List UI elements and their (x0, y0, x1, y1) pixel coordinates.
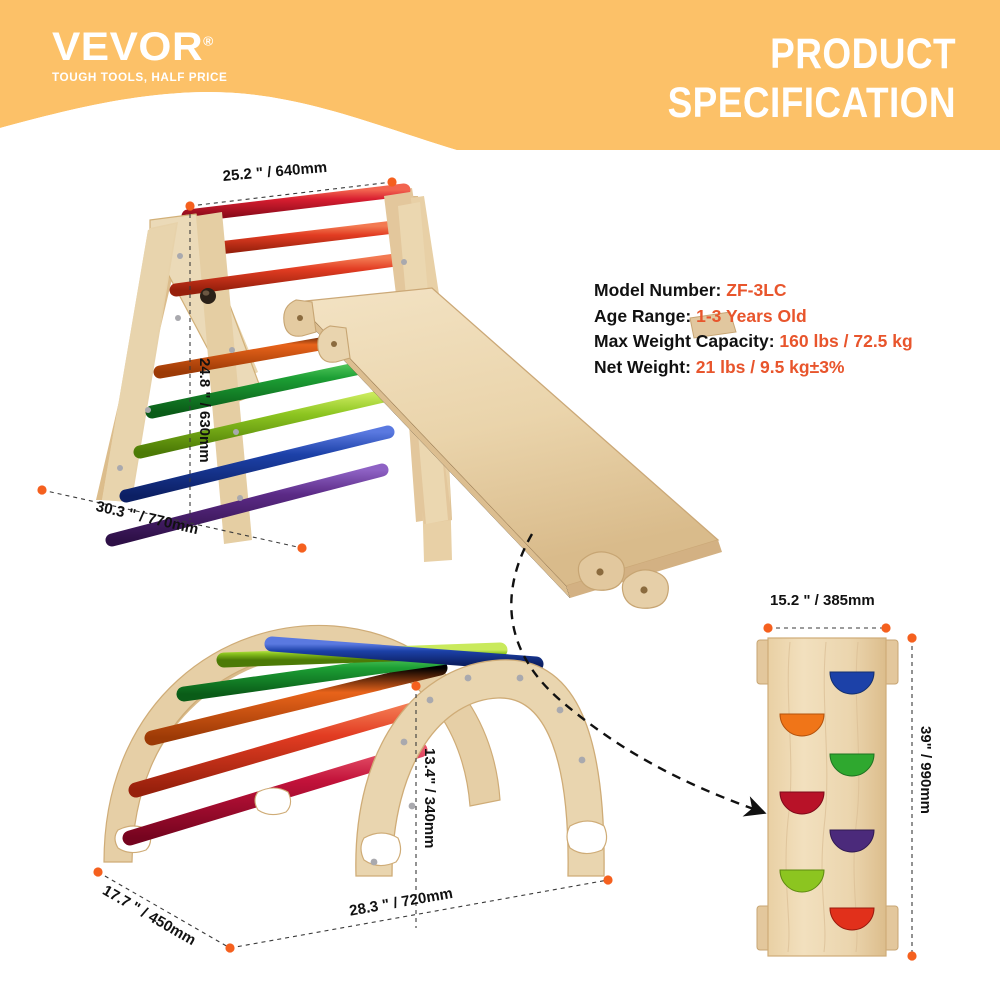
spec-label-age-range: Age Range: (594, 306, 691, 326)
spec-label-model-number: Model Number: (594, 280, 721, 300)
spec-row-model-number: Model Number: ZF-3LC (594, 278, 994, 304)
triangle-height-label: 24.8 " / 630mm (196, 358, 213, 463)
product-illustrations (0, 0, 1000, 1000)
ramp-length-label: 39" / 990mm (917, 726, 934, 814)
spec-value-net-weight: 21 lbs / 9.5 kg±3% (696, 357, 845, 377)
specification-list: Model Number: ZF-3LC Age Range: 1-3 Year… (594, 278, 994, 380)
spec-value-age-range: 1-3 Years Old (696, 306, 807, 326)
climbing-triangle-illustration (37, 177, 736, 608)
spec-row-age-range: Age Range: 1-3 Years Old (594, 304, 994, 330)
spec-value-model-number: ZF-3LC (726, 280, 786, 300)
arch-height-label: 13.4" / 340mm (421, 748, 438, 849)
spec-value-max-weight-capacity: 160 lbs / 72.5 kg (779, 331, 912, 351)
ramp-width-label: 15.2 " / 385mm (770, 592, 875, 609)
product-specification-sheet: VEVOR® TOUGH TOOLS, HALF PRICE PRODUCT S… (0, 0, 1000, 1000)
spec-row-net-weight: Net Weight: 21 lbs / 9.5 kg±3% (594, 355, 994, 381)
spec-label-net-weight: Net Weight: (594, 357, 691, 377)
spec-label-max-weight-capacity: Max Weight Capacity: (594, 331, 775, 351)
spec-row-max-weight-capacity: Max Weight Capacity: 160 lbs / 72.5 kg (594, 329, 994, 355)
climbing-ramp-panel-illustration (757, 623, 917, 960)
